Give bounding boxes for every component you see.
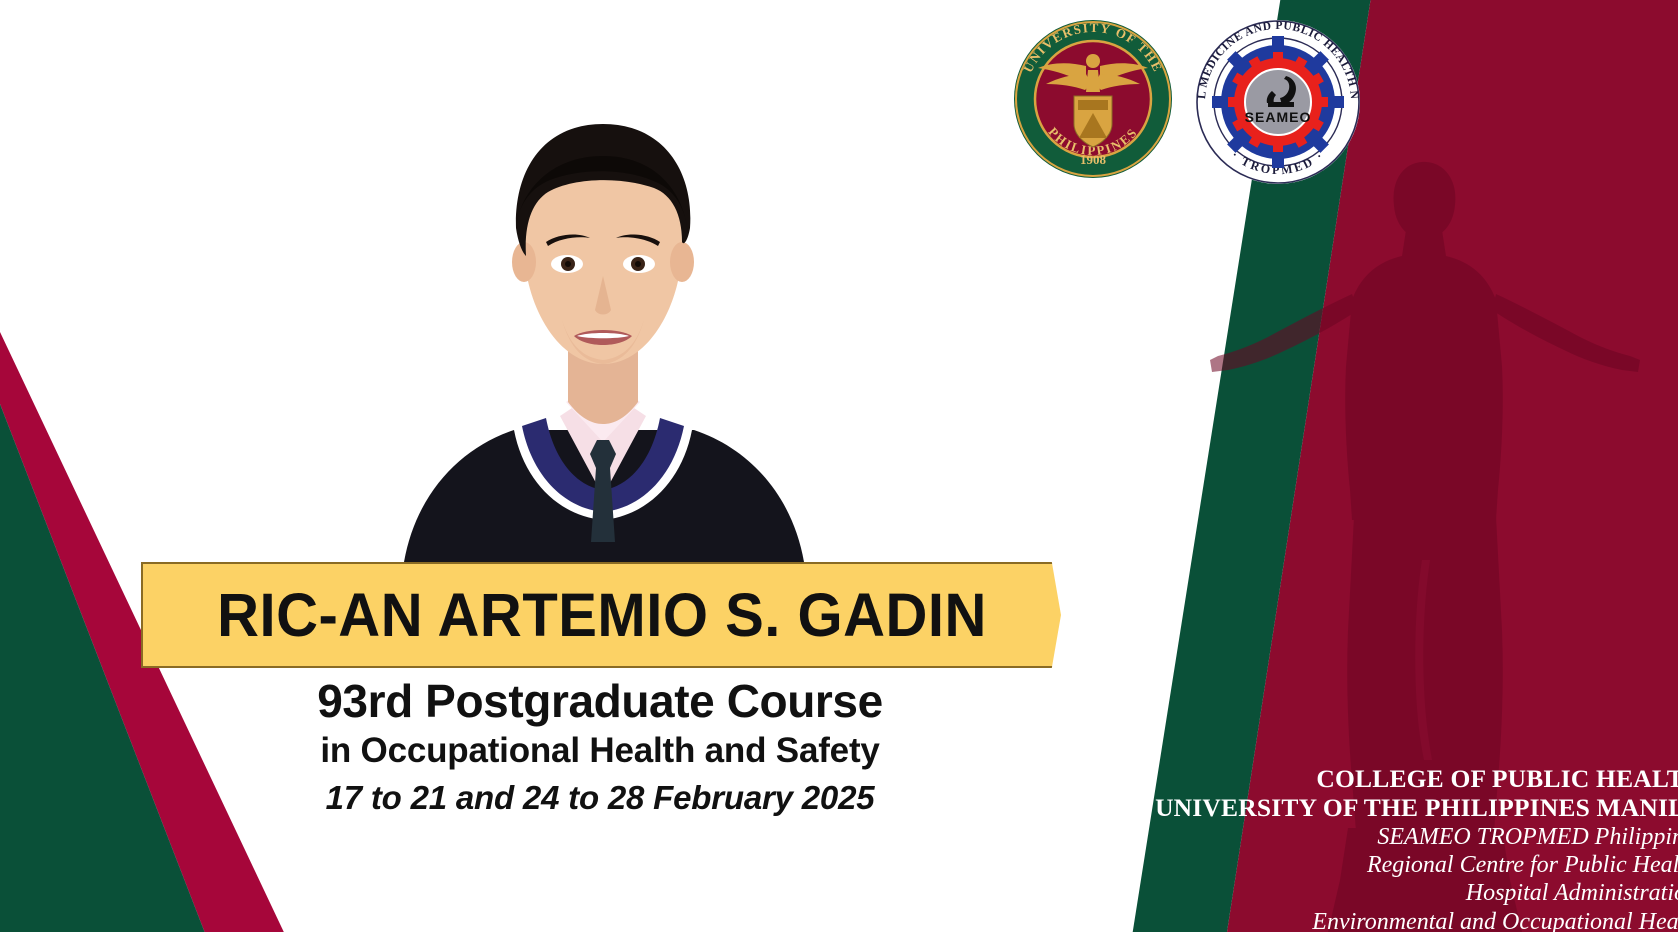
course-info-block: 93rd Postgraduate Course in Occupational… (100, 676, 1100, 817)
institution-college: COLLEGE OF PUBLIC HEALTH (1144, 765, 1678, 794)
institution-university: UNIVERSITY OF THE PHILIPPINES MANILA (1144, 794, 1678, 823)
institution-centre-line1: SEAMEO TROPMED Philippines (1144, 823, 1678, 851)
university-of-the-philippines-seal-icon: UNIVERSITY OF THE PHILIPPINES 1908 (1012, 18, 1174, 180)
svg-text:SEAMEO: SEAMEO (1245, 109, 1312, 125)
institution-centre-line2: Regional Centre for Public Health, (1144, 851, 1678, 879)
honoree-name-banner: RIC-AN ARTEMIO S. GADIN (141, 562, 1061, 668)
course-dates: 17 to 21 and 24 to 28 February 2025 (100, 779, 1100, 817)
graduate-portrait-photo (364, 96, 842, 562)
seameo-tropmed-seal-icon: TROPICAL MEDICINE AND PUBLIC HEALTH NETW… (1194, 18, 1362, 186)
institution-block: COLLEGE OF PUBLIC HEALTH UNIVERSITY OF T… (1144, 765, 1678, 932)
svg-text:1908: 1908 (1080, 152, 1107, 167)
course-subtitle: in Occupational Health and Safety (100, 730, 1100, 771)
institution-centre-line3: Hospital Administration, (1144, 879, 1678, 907)
course-title: 93rd Postgraduate Course (100, 676, 1100, 728)
institution-centre-line4: Environmental and Occupational Health (1144, 908, 1678, 932)
honoree-name: RIC-AN ARTEMIO S. GADIN (217, 579, 987, 650)
poster-canvas: UNIVERSITY OF THE PHILIPPINES 1908 (0, 0, 1678, 932)
